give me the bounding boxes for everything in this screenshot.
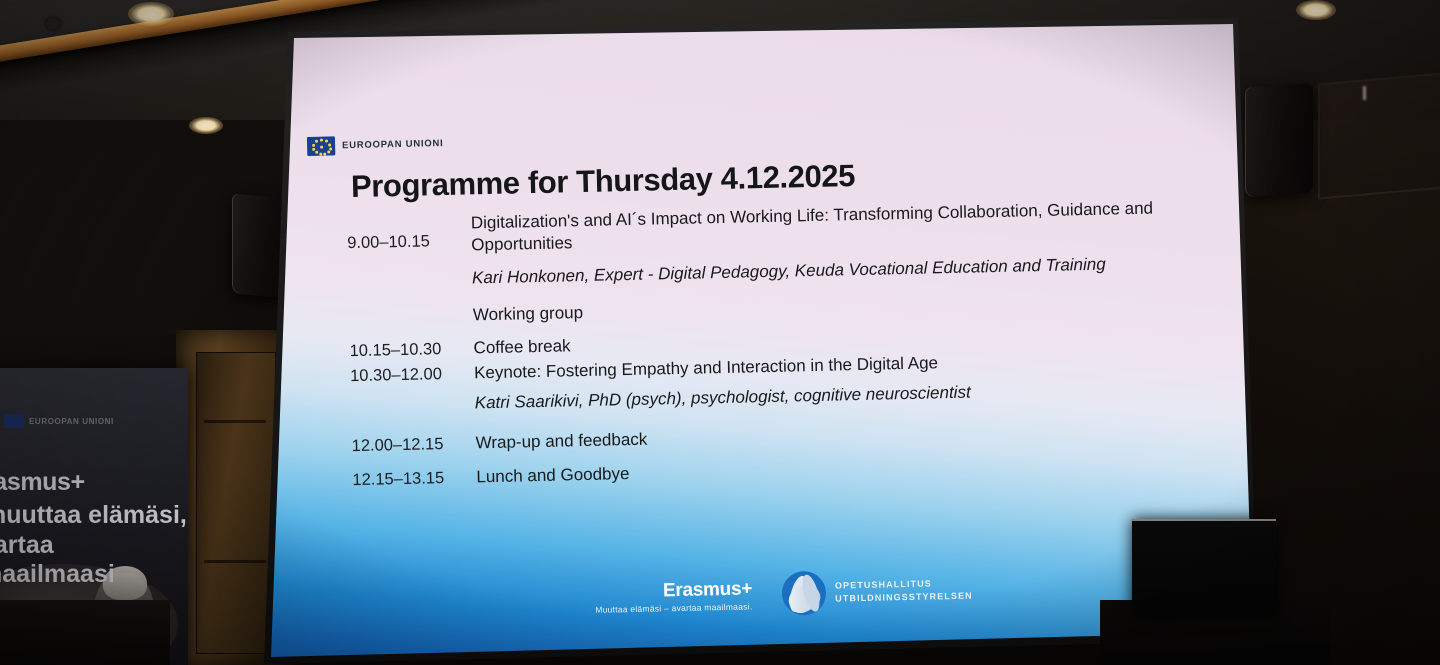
banner-eu-label: EUROOPAN UNIONI bbox=[29, 417, 114, 426]
erasmus-tagline: Muuttaa elämäsi – avartaa maailmaasi. bbox=[595, 601, 752, 614]
erasmus-logo: Erasmus+ Muuttaa elämäsi – avartaa maail… bbox=[595, 578, 753, 614]
ceiling-fixture-icon bbox=[46, 18, 60, 29]
row-time: 10.30–12.00 bbox=[350, 362, 474, 386]
door-panel-line-bottom bbox=[204, 560, 266, 563]
downlight-icon-3 bbox=[1296, 0, 1336, 20]
agency-name-sv: UTBILDNINGSSTYRELSEN bbox=[835, 590, 973, 606]
erasmus-name: Erasmus+ bbox=[595, 578, 753, 603]
row-time bbox=[351, 392, 475, 397]
screen-glare bbox=[1363, 86, 1366, 100]
programme-row: 9.00–10.15 Digitalization's and AI´s Imp… bbox=[347, 197, 1168, 258]
eu-flag-icon bbox=[4, 414, 24, 428]
slide-footer: Erasmus+ Muuttaa elämäsi – avartaa maail… bbox=[595, 568, 974, 620]
banner-line-2: vartaa maailmaasi bbox=[0, 531, 188, 589]
programme-row: 12.00–12.15 Wrap-up and feedback bbox=[351, 417, 1171, 457]
photo-scene: EUROOPAN UNIONI rasmus+ muuttaa elämäsi,… bbox=[0, 0, 1440, 665]
programme-row: Working group bbox=[349, 289, 1169, 329]
row-description: Katri Saarikivi, PhD (psych), psychologi… bbox=[475, 377, 1171, 414]
programme-list: 9.00–10.15 Digitalization's and AI´s Imp… bbox=[347, 197, 1173, 491]
row-description: Working group bbox=[473, 289, 1169, 326]
door-panel-line-top bbox=[204, 420, 266, 423]
slide-eu-label: EUROOPAN UNIONI bbox=[342, 138, 444, 151]
agency-name: OPETUSHALLITUS UTBILDNINGSSTYRELSEN bbox=[835, 576, 973, 606]
agency-swirl-icon bbox=[782, 571, 827, 616]
row-time bbox=[349, 305, 473, 310]
programme-row: 12.15–13.15 Lunch and Goodbye bbox=[352, 451, 1172, 491]
banner-eu-logo: EUROOPAN UNIONI bbox=[4, 414, 114, 428]
opetushallitus-logo: OPETUSHALLITUS UTBILDNINGSSTYRELSEN bbox=[782, 568, 973, 616]
row-time: 12.15–13.15 bbox=[352, 466, 476, 490]
row-description: Lunch and Goodbye bbox=[476, 451, 1172, 488]
row-time bbox=[348, 267, 472, 272]
eu-flag-icon bbox=[307, 136, 335, 156]
presentation-slide: EUROOPAN UNIONI Programme for Thursday 4… bbox=[258, 18, 1268, 665]
podium-monitor bbox=[1132, 519, 1276, 615]
row-description: Digitalization's and AI´s Impact on Work… bbox=[471, 197, 1168, 256]
slide-eu-logo: EUROOPAN UNIONI bbox=[307, 134, 444, 156]
row-time: 12.00–12.15 bbox=[351, 433, 475, 457]
programme-row: Kari Honkonen, Expert - Digital Pedagogy… bbox=[348, 252, 1168, 292]
banner-line-1: muuttaa elämäsi, bbox=[0, 501, 187, 530]
foreground-table bbox=[0, 600, 170, 665]
wall-panel bbox=[1318, 72, 1440, 199]
page-title: Programme for Thursday 4.12.2025 bbox=[351, 158, 856, 205]
downlight-icon-1 bbox=[128, 2, 174, 26]
row-time: 10.15–10.30 bbox=[349, 337, 473, 361]
banner-title: rasmus+ bbox=[0, 468, 85, 497]
row-time: 9.00–10.15 bbox=[347, 212, 472, 253]
row-description: Kari Honkonen, Expert - Digital Pedagogy… bbox=[472, 252, 1168, 289]
row-description: Wrap-up and feedback bbox=[475, 417, 1171, 454]
downlight-icon-2 bbox=[189, 117, 223, 134]
